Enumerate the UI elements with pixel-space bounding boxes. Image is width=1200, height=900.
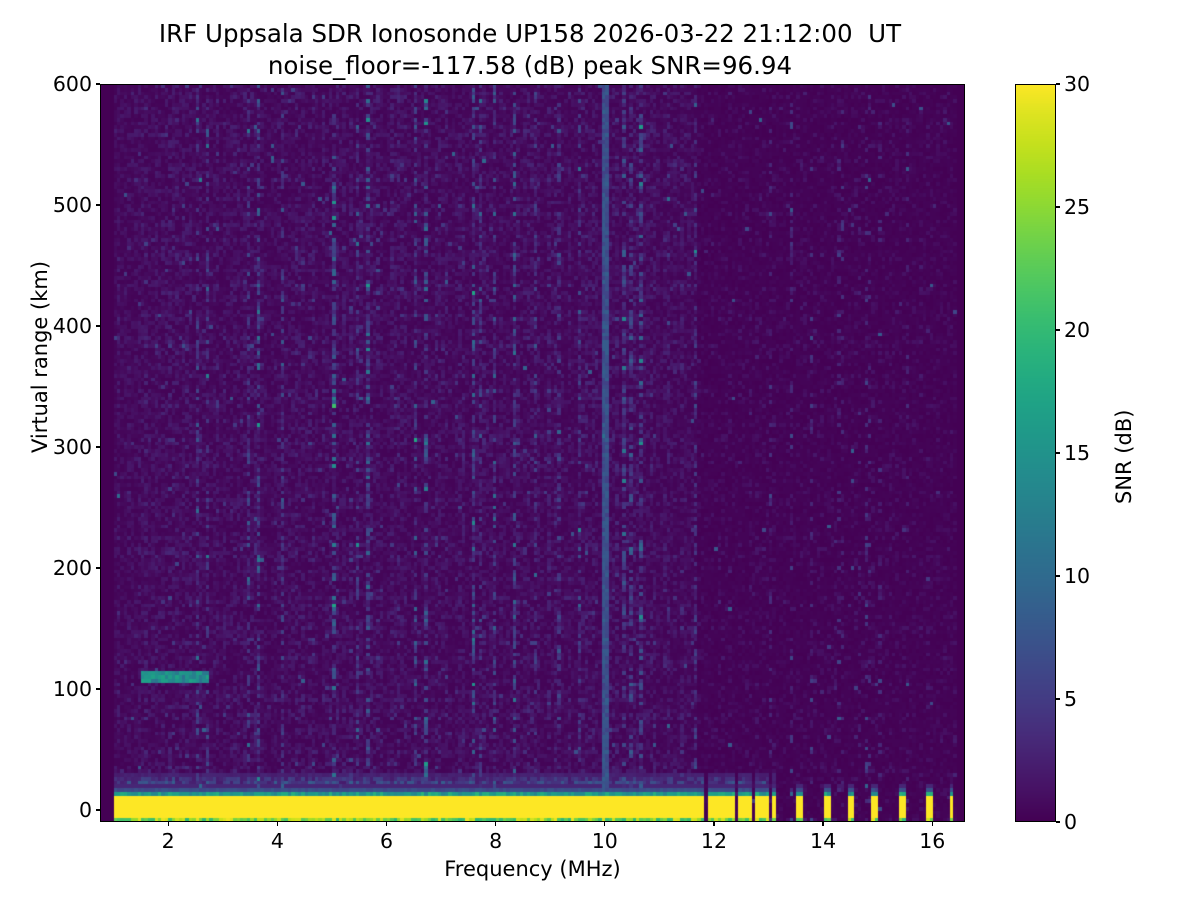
y-tick-label: 500 — [53, 193, 92, 217]
ionogram-figure: IRF Uppsala SDR Ionosonde UP158 2026-03-… — [0, 0, 1200, 900]
colorbar-tick-label: 25 — [1064, 195, 1090, 219]
x-tick-mark — [495, 822, 496, 826]
x-tick-label: 12 — [701, 829, 727, 853]
title-line-1: IRF Uppsala SDR Ionosonde UP158 2026-03-… — [0, 18, 1060, 50]
x-tick-mark — [168, 822, 169, 826]
x-tick-label: 10 — [592, 829, 618, 853]
x-tick-mark — [932, 822, 933, 826]
colorbar-tick-label: 10 — [1064, 564, 1090, 588]
y-tick-mark — [96, 204, 100, 205]
y-tick-label: 0 — [79, 798, 92, 822]
y-tick-label: 300 — [53, 435, 92, 459]
y-tick-label: 100 — [53, 677, 92, 701]
colorbar-tick-label: 20 — [1064, 318, 1090, 342]
title-line-2: noise_floor=-117.58 (dB) peak SNR=96.94 — [0, 50, 1060, 82]
colorbar-tick-mark — [1056, 821, 1060, 822]
y-axis-label: Virtual range (km) — [28, 261, 52, 453]
x-tick-mark — [386, 822, 387, 826]
colorbar-tick-mark — [1056, 452, 1060, 453]
y-tick-mark — [96, 446, 100, 447]
colorbar-gradient — [1015, 84, 1056, 822]
y-tick-mark — [96, 809, 100, 810]
x-tick-mark — [822, 822, 823, 826]
figure-title: IRF Uppsala SDR Ionosonde UP158 2026-03-… — [0, 18, 1060, 82]
y-tick-mark — [96, 325, 100, 326]
x-tick-label: 6 — [380, 829, 393, 853]
x-tick-label: 4 — [271, 829, 284, 853]
y-tick-mark — [96, 83, 100, 84]
x-tick-label: 16 — [919, 829, 945, 853]
y-tick-mark — [96, 567, 100, 568]
colorbar-tick-mark — [1056, 83, 1060, 84]
x-tick-label: 8 — [489, 829, 502, 853]
colorbar-tick-label: 5 — [1064, 687, 1077, 711]
colorbar-label: SNR (dB) — [1112, 410, 1136, 504]
colorbar-tick-mark — [1056, 575, 1060, 576]
y-tick-label: 400 — [53, 314, 92, 338]
x-tick-mark — [713, 822, 714, 826]
x-axis-label: Frequency (MHz) — [100, 857, 965, 881]
colorbar-tick-mark — [1056, 329, 1060, 330]
colorbar-tick-label: 15 — [1064, 441, 1090, 465]
x-tick-mark — [604, 822, 605, 826]
colorbar-tick-mark — [1056, 698, 1060, 699]
y-tick-mark — [96, 688, 100, 689]
colorbar-tick-label: 0 — [1064, 810, 1077, 834]
colorbar-tick-mark — [1056, 206, 1060, 207]
y-tick-label: 200 — [53, 556, 92, 580]
ionogram-heatmap — [100, 84, 965, 822]
x-tick-mark — [277, 822, 278, 826]
x-tick-label: 2 — [162, 829, 175, 853]
x-tick-label: 14 — [810, 829, 836, 853]
y-tick-label: 600 — [53, 72, 92, 96]
colorbar-tick-label: 30 — [1064, 72, 1090, 96]
